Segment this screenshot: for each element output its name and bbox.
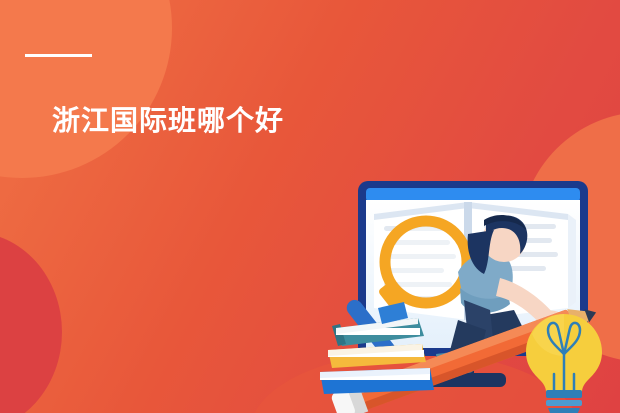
poster-canvas: 浙江国际班哪个好: [0, 0, 620, 413]
lightbulb-icon: [526, 314, 602, 413]
online-learning-illustration: [318, 168, 620, 413]
page-title: 浙江国际班哪个好: [52, 103, 284, 139]
decor-circle-bottom-left: [0, 232, 62, 413]
decor-circle-top-left: [0, 0, 172, 178]
accent-rule: [25, 54, 92, 57]
